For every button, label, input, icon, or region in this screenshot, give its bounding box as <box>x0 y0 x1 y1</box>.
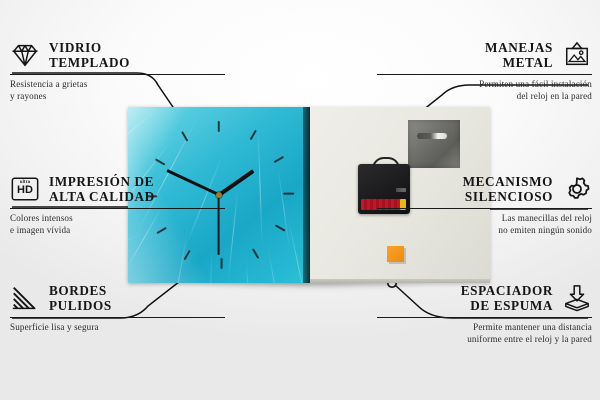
feature-description: Las manecillas del reloj no emiten ningú… <box>377 212 592 236</box>
ultra-hd-icon: ultra HD <box>10 176 40 202</box>
metal-hanger-plate <box>408 120 460 168</box>
foam-spacer-pad <box>387 246 404 262</box>
clock-tick <box>283 193 294 195</box>
feature-description: Superficie lisa y segura <box>10 321 225 333</box>
glass-edge <box>303 107 310 283</box>
feature-title: VIDRIO TEMPLADO <box>49 40 130 71</box>
feature-vidrio-templado: VIDRIO TEMPLADO Resistencia a grietas y … <box>10 40 225 102</box>
polished-edges-icon <box>10 284 40 312</box>
clock-tick <box>274 156 285 164</box>
infographic-stage: VIDRIO TEMPLADO Resistencia a grietas y … <box>0 0 600 400</box>
clock-tick <box>218 121 220 132</box>
feature-description: Resistencia a grietas y rayones <box>10 78 225 102</box>
feature-title: BORDES PULIDOS <box>49 283 112 314</box>
feature-impresion-alta-calidad: ultra HD IMPRESIÓN DE ALTA CALIDAD Color… <box>10 174 225 236</box>
clock-tick <box>252 248 260 259</box>
clock-tick <box>275 224 286 232</box>
clock-tick <box>183 250 191 261</box>
clock-tick <box>155 158 166 166</box>
title-rule <box>10 317 225 318</box>
feature-bordes-pulidos: BORDES PULIDOS Superficie lisa y segura <box>10 283 225 333</box>
feature-title: ESPACIADOR DE ESPUMA <box>461 283 553 314</box>
clock-tick <box>181 131 189 142</box>
feature-mecanismo-silencioso: MECANISMO SILENCIOSO Las manecillas del … <box>377 174 592 236</box>
title-rule <box>377 74 592 75</box>
ultra-hd-large-text: HD <box>10 185 40 196</box>
feature-description: Colores intensos e imagen vívida <box>10 212 225 236</box>
title-rule <box>10 208 225 209</box>
title-rule <box>377 208 592 209</box>
foam-spacer-icon <box>562 284 592 312</box>
feature-title: IMPRESIÓN DE ALTA CALIDAD <box>49 174 155 205</box>
clock-tick <box>220 258 222 269</box>
feature-description: Permiten una fácil instalación del reloj… <box>377 78 592 102</box>
feature-title: MANEJAS METAL <box>485 40 553 71</box>
framed-picture-icon <box>562 41 592 69</box>
clock-tick <box>250 130 258 141</box>
feature-title: MECANISMO SILENCIOSO <box>463 174 553 205</box>
hanger-slot <box>417 133 447 139</box>
feature-description: Permite mantener una distancia uniforme … <box>377 321 592 345</box>
title-rule <box>377 317 592 318</box>
hanger-loop <box>372 157 400 169</box>
feature-espaciador-espuma: ESPACIADOR DE ESPUMA Permite mantener un… <box>377 283 592 345</box>
diamond-icon <box>10 41 40 69</box>
feature-manejas-metal: MANEJAS METAL Permiten una fácil instala… <box>377 40 592 102</box>
gear-icon <box>562 175 592 203</box>
title-rule <box>10 74 225 75</box>
